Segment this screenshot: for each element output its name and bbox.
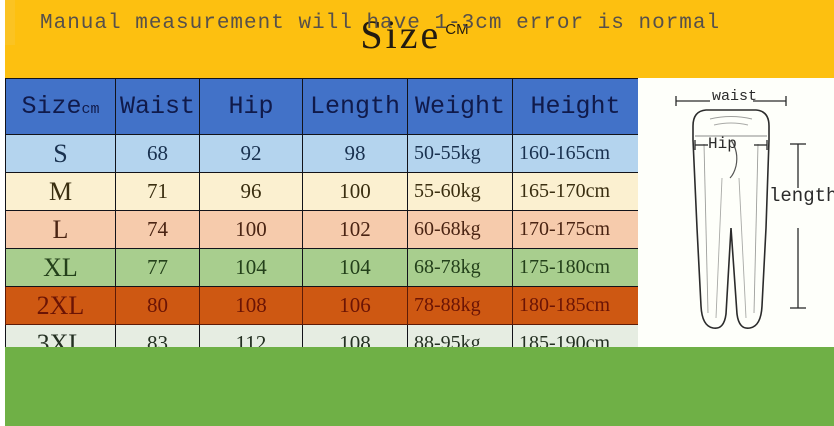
cell-hip: 108 — [200, 287, 303, 325]
column-header-weight: Weight — [408, 79, 513, 135]
column-header-hip: Hip — [200, 79, 303, 135]
cell-size: S — [6, 135, 116, 173]
size-table: Sizecm Waist Hip Length Weight Height S … — [5, 78, 639, 363]
table-row: XL 77 104 104 68-78kg 175-180cm — [6, 249, 639, 287]
cell-size: L — [6, 211, 116, 249]
column-header-waist: Waist — [116, 79, 200, 135]
cell-height: 180-185cm — [513, 287, 639, 325]
pants-illustration-svg — [638, 78, 834, 347]
table-row: M 71 96 100 55-60kg 165-170cm — [6, 173, 639, 211]
cell-waist: 71 — [116, 173, 200, 211]
cell-size: 2XL — [6, 287, 116, 325]
table-row: 2XL 80 108 106 78-88kg 180-185cm — [6, 287, 639, 325]
waist-dimension-label: waist — [712, 88, 757, 105]
table-row: S 68 92 98 50-55kg 160-165cm — [6, 135, 639, 173]
table-row: L 74 100 102 60-68kg 170-175cm — [6, 211, 639, 249]
hip-dimension-label: Hip — [708, 135, 737, 153]
cell-length: 98 — [303, 135, 408, 173]
cell-hip: 96 — [200, 173, 303, 211]
size-chart-image: SizeCM Sizecm Waist Hip Length Weight He… — [0, 0, 834, 426]
column-header-size-text: Size — [21, 92, 81, 121]
cell-length: 106 — [303, 287, 408, 325]
cell-size: M — [6, 173, 116, 211]
cell-length: 100 — [303, 173, 408, 211]
cell-waist: 77 — [116, 249, 200, 287]
cell-hip: 104 — [200, 249, 303, 287]
cell-size: XL — [6, 249, 116, 287]
note-banner — [5, 347, 834, 426]
column-header-length: Length — [303, 79, 408, 135]
cell-length: 104 — [303, 249, 408, 287]
cell-waist: 68 — [116, 135, 200, 173]
cell-waist: 80 — [116, 287, 200, 325]
cell-weight: 60-68kg — [408, 211, 513, 249]
cell-weight: 55-60kg — [408, 173, 513, 211]
length-dimension-label: length — [769, 185, 834, 207]
column-header-height: Height — [513, 79, 639, 135]
table-header-row: Sizecm Waist Hip Length Weight Height — [6, 79, 639, 135]
cell-hip: 92 — [200, 135, 303, 173]
cell-hip: 100 — [200, 211, 303, 249]
cell-length: 102 — [303, 211, 408, 249]
cell-height: 165-170cm — [513, 173, 639, 211]
cell-weight: 68-78kg — [408, 249, 513, 287]
length-dimension-line — [790, 144, 806, 308]
cell-height: 160-165cm — [513, 135, 639, 173]
cell-waist: 74 — [116, 211, 200, 249]
cell-height: 175-180cm — [513, 249, 639, 287]
column-header-size-unit: cm — [82, 101, 100, 118]
column-header-size: Sizecm — [6, 79, 116, 135]
cell-weight: 50-55kg — [408, 135, 513, 173]
cell-height: 170-175cm — [513, 211, 639, 249]
pants-diagram — [638, 78, 834, 347]
measurement-note: Manual measurement will have 1-3cm error… — [40, 12, 720, 35]
cell-weight: 78-88kg — [408, 287, 513, 325]
